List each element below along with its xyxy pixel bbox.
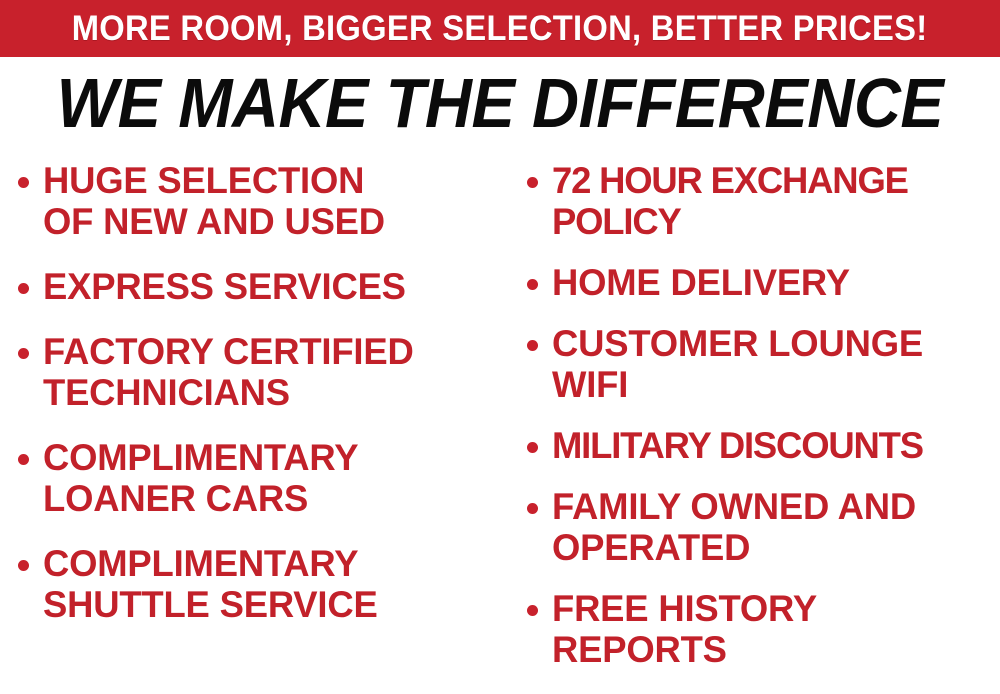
list-item-label: MILITARY DISCOUNTS [552, 425, 993, 466]
list-item-label: 72 HOUR EXCHANGE POLICY [552, 160, 993, 242]
bullet-dot-icon [527, 503, 538, 514]
list-item: EXPRESS SERVICES [18, 266, 505, 307]
list-item: HUGE SELECTION OF NEW AND USED [18, 160, 505, 242]
bullet-dot-icon [18, 348, 29, 359]
bullet-dot-icon [18, 177, 29, 188]
list-item-label: CUSTOMER LOUNGE WIFI [552, 323, 993, 405]
bullet-dot-icon [18, 560, 29, 571]
list-item-label: HOME DELIVERY [552, 262, 993, 303]
list-item: MILITARY DISCOUNTS [527, 425, 1000, 466]
bullet-dot-icon [527, 279, 538, 290]
page-title: WE MAKE THE DIFFERENCE [35, 66, 965, 140]
bullet-dot-icon [527, 605, 538, 616]
list-item: 72 HOUR EXCHANGE POLICY [527, 160, 1000, 242]
bullet-dot-icon [18, 454, 29, 465]
benefits-column-left: HUGE SELECTION OF NEW AND USED EXPRESS S… [0, 160, 505, 649]
list-item-label: EXPRESS SERVICES [43, 266, 498, 307]
bullet-dot-icon [527, 442, 538, 453]
benefits-column-right: 72 HOUR EXCHANGE POLICY HOME DELIVERY CU… [505, 160, 1000, 690]
bullet-dot-icon [527, 177, 538, 188]
bullet-dot-icon [527, 340, 538, 351]
benefits-columns: HUGE SELECTION OF NEW AND USED EXPRESS S… [0, 160, 1000, 694]
top-banner: MORE ROOM, BIGGER SELECTION, BETTER PRIC… [0, 0, 1000, 57]
list-item-label: COMPLIMENTARY SHUTTLE SERVICE [43, 543, 498, 625]
bullet-dot-icon [18, 283, 29, 294]
list-item: COMPLIMENTARY LOANER CARS [18, 437, 505, 519]
list-item-label: HUGE SELECTION OF NEW AND USED [43, 160, 498, 242]
list-item: FAMILY OWNED AND OPERATED [527, 486, 1000, 568]
list-item: HOME DELIVERY [527, 262, 1000, 303]
list-item-label: COMPLIMENTARY LOANER CARS [43, 437, 498, 519]
list-item: FREE HISTORY REPORTS [527, 588, 1000, 670]
list-item: FACTORY CERTIFIED TECHNICIANS [18, 331, 505, 413]
list-item-label: FACTORY CERTIFIED TECHNICIANS [43, 331, 498, 413]
list-item-label: FAMILY OWNED AND OPERATED [552, 486, 993, 568]
list-item: COMPLIMENTARY SHUTTLE SERVICE [18, 543, 505, 625]
list-item-label: FREE HISTORY REPORTS [552, 588, 993, 670]
banner-headline-text: MORE ROOM, BIGGER SELECTION, BETTER PRIC… [72, 11, 928, 46]
promotional-poster: MORE ROOM, BIGGER SELECTION, BETTER PRIC… [0, 0, 1000, 694]
list-item: CUSTOMER LOUNGE WIFI [527, 323, 1000, 405]
